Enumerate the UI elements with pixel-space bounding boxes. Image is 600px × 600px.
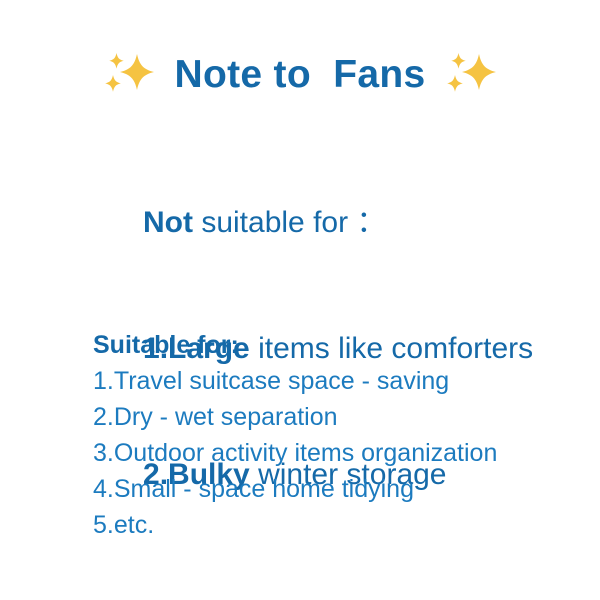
not-suitable-heading-bold: Not bbox=[143, 206, 193, 239]
suitable-item: 2.Dry - wet separation bbox=[93, 399, 497, 435]
suitable-item: 5.etc. bbox=[93, 507, 497, 543]
suitable-item: 1.Travel suitcase space - saving bbox=[93, 363, 497, 399]
not-suitable-heading-rest: suitable for ： bbox=[193, 206, 386, 239]
not-suitable-heading: Not suitable for ： bbox=[93, 160, 533, 286]
suitable-section: Suitable for: 1.Travel suitcase space - … bbox=[93, 327, 497, 543]
sparkles-icon bbox=[443, 46, 499, 102]
suitable-item: 3.Outdoor activity items organization bbox=[93, 435, 497, 471]
suitable-item: 4.Small - space home tidying bbox=[93, 471, 497, 507]
page-title: Note to Fans bbox=[175, 55, 426, 94]
suitable-heading: Suitable for: bbox=[93, 327, 497, 363]
sparkles-icon bbox=[101, 46, 157, 102]
note-to-fans-poster: Note to Fans Not suitable for ： 1.Large … bbox=[0, 0, 600, 600]
page-title-row: Note to Fans bbox=[0, 46, 600, 102]
